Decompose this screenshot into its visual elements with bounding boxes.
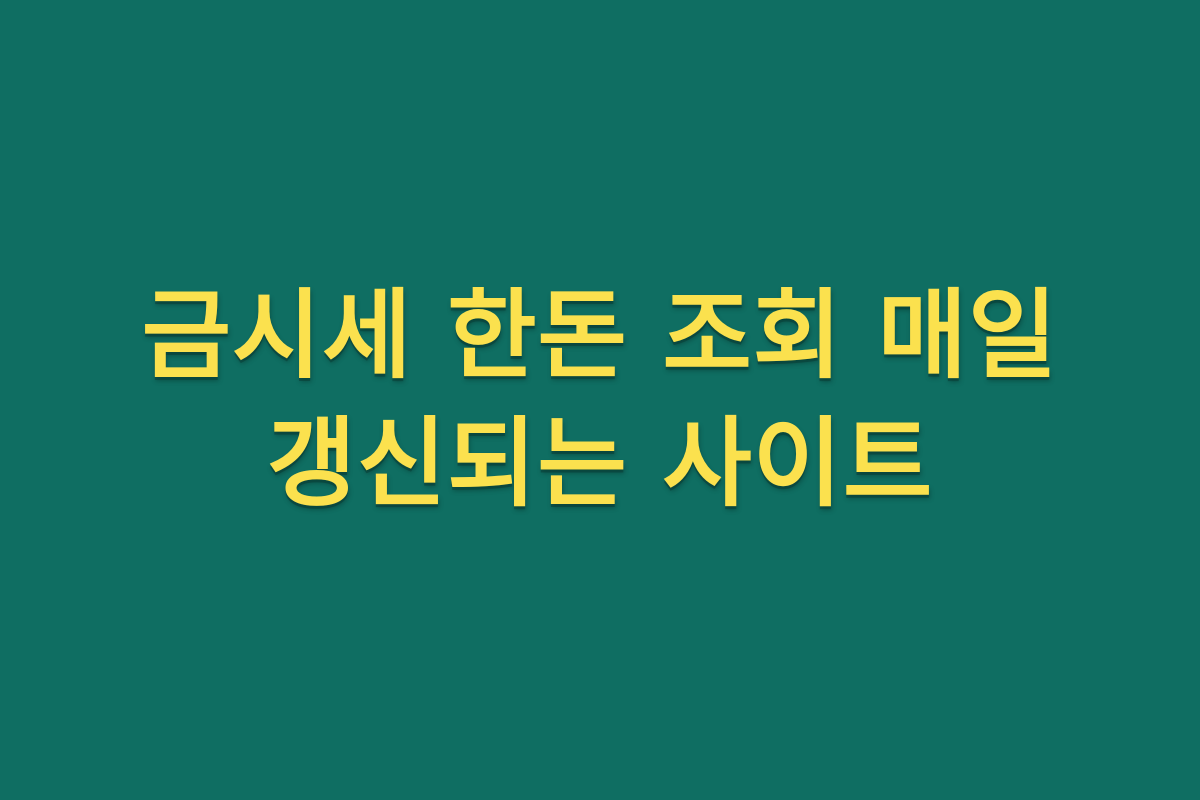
headline-block: 금시세 한돈 조회 매일 갱신되는 사이트 bbox=[0, 0, 1200, 800]
banner-canvas: 금시세 한돈 조회 매일 갱신되는 사이트 bbox=[0, 0, 1200, 800]
headline-line-1: 금시세 한돈 조회 매일 bbox=[142, 272, 1058, 400]
headline-line-2: 갱신되는 사이트 bbox=[267, 400, 933, 528]
